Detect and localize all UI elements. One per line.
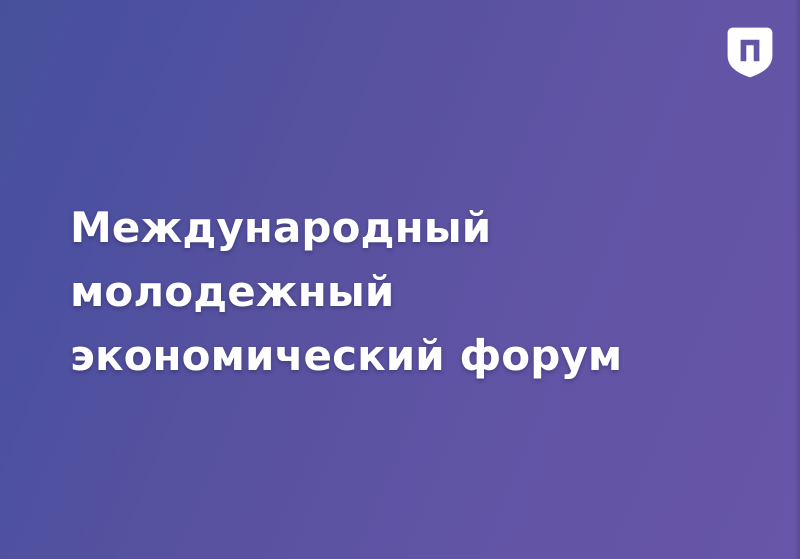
right-edge-shade <box>794 0 800 559</box>
promo-banner: Международный молодежный экономический ф… <box>0 0 800 559</box>
shield-logo-icon[interactable] <box>727 27 773 78</box>
shield-path <box>728 28 773 78</box>
page-title: Международный молодежный экономический ф… <box>70 196 770 388</box>
